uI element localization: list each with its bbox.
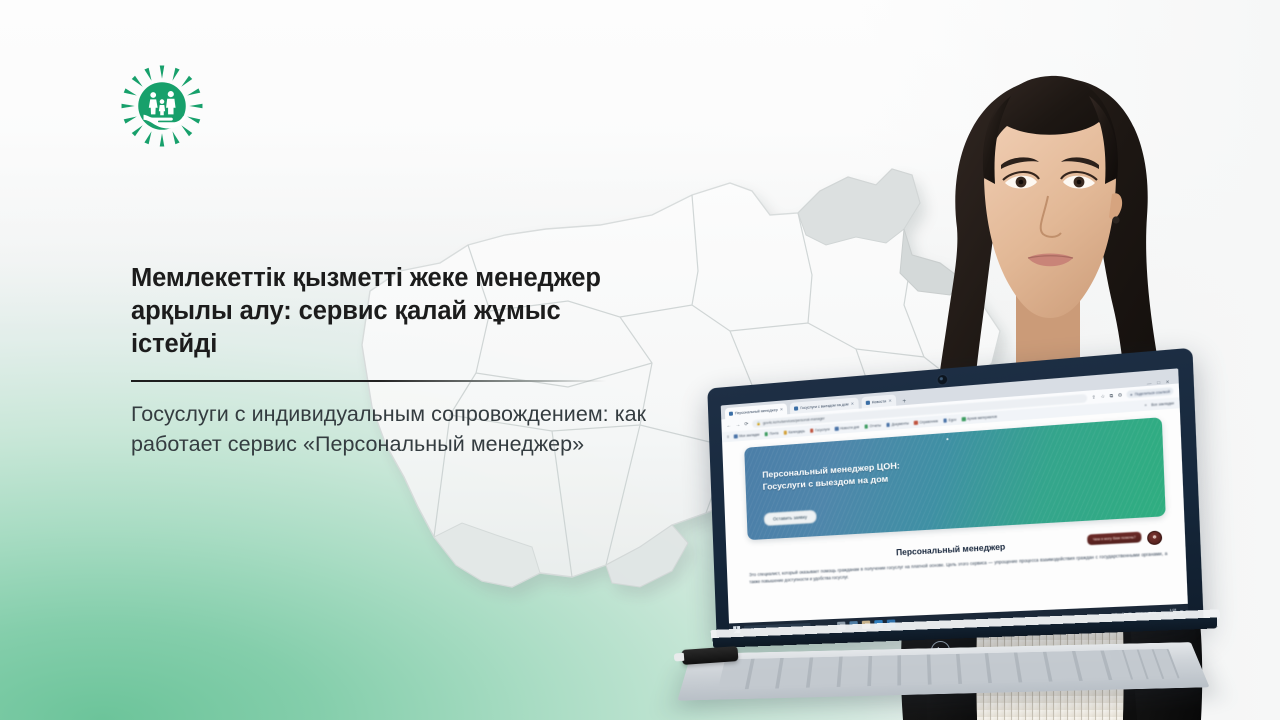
keyboard xyxy=(718,650,1128,690)
share-link-button[interactable]: ● Поделиться ссылкой xyxy=(1127,387,1174,398)
bookmark-label: Справочник xyxy=(919,419,938,425)
bookmark-label: Egov xyxy=(949,418,957,423)
reload-icon[interactable]: ⟳ xyxy=(744,421,748,427)
headline-block: Мемлекеттік қызметті жеке менеджер арқыл… xyxy=(131,262,651,459)
bookmarks-right[interactable]: » Все закладки xyxy=(1145,401,1174,408)
bookmark-label: Календарь xyxy=(788,429,804,434)
page-hero-banner: Персональный менеджер ЦОН: Госуслуги с в… xyxy=(744,417,1166,540)
tab-favicon xyxy=(865,400,869,404)
profile-label: Поделиться ссылкой xyxy=(1135,389,1170,396)
all-bookmarks-label[interactable]: Все закладки xyxy=(1151,401,1174,407)
browser-nav-buttons[interactable]: ← → ⟳ xyxy=(726,421,748,429)
url-text: gov4c.kz/ru/services/personal-manager xyxy=(763,416,825,425)
close-icon[interactable]: ✕ xyxy=(851,401,855,406)
bookmark-star-icon[interactable]: ☆ xyxy=(1100,393,1105,400)
slide-canvas: Мемлекеттік қызметті жеке менеджер арқыл… xyxy=(0,0,1280,720)
back-icon[interactable]: ← xyxy=(726,422,731,428)
close-icon[interactable]: ✕ xyxy=(780,407,784,412)
banner-indicator xyxy=(946,438,948,440)
bookmark-label: Мои закладки xyxy=(739,433,760,439)
tab-title: Новости xyxy=(872,399,887,404)
laptop-base xyxy=(677,642,1209,700)
profile-avatar: ● xyxy=(1130,392,1132,396)
close-icon[interactable]: ✕ xyxy=(888,398,892,403)
bookmark-item[interactable]: Архив материалов xyxy=(962,415,997,422)
bookmark-item[interactable]: Госуслуги xyxy=(810,427,830,433)
bookmark-label: Отчеты xyxy=(870,423,882,428)
bookmark-item[interactable]: Egov xyxy=(943,418,956,423)
numpad xyxy=(1109,649,1180,680)
page-section: Чем я могу Вам помочь? ☻ Персональный ме… xyxy=(748,530,1168,585)
bookmark-label: Архив материалов xyxy=(967,415,997,421)
sun-family-hand-logo xyxy=(118,62,206,150)
bookmark-label: Документы xyxy=(891,421,908,426)
tab-title: Персональный менеджер xyxy=(735,407,778,414)
laptop-lid: Персональный менеджер ✕ Госуслуги с выез… xyxy=(707,348,1204,646)
tab-title: Госуслуги с выездом на дом xyxy=(800,402,848,410)
bookmark-label: Почта xyxy=(769,431,778,436)
new-tab-button[interactable]: + xyxy=(899,398,909,405)
bookmark-item[interactable]: Отчеты xyxy=(864,423,881,428)
bookmark-label: Новости дня xyxy=(840,425,859,431)
forward-icon[interactable]: → xyxy=(735,422,740,428)
bookmarks-overflow-icon[interactable]: » xyxy=(1145,403,1147,407)
lock-icon: 🔒 xyxy=(756,421,761,425)
title-divider xyxy=(131,380,606,382)
page-title-kk: Мемлекеттік қызметті жеке менеджер арқыл… xyxy=(131,262,651,361)
close-window-icon[interactable]: ✕ xyxy=(1166,379,1170,385)
web-page: Персональный менеджер ЦОН: Госуслуги с в… xyxy=(722,408,1188,636)
apps-grid-icon[interactable]: ⠿ xyxy=(727,435,729,439)
maximize-icon[interactable]: □ xyxy=(1157,380,1160,386)
bookmark-item[interactable]: Календарь xyxy=(783,429,805,435)
share-icon[interactable]: ⇪ xyxy=(1092,394,1096,401)
laptop: Персональный менеджер ✕ Госуслуги с выез… xyxy=(655,382,1195,720)
tab-favicon xyxy=(794,406,798,410)
bookmark-item[interactable]: Справочник xyxy=(914,419,938,425)
bookmark-item[interactable]: Почта xyxy=(764,431,778,436)
minimize-icon[interactable]: — xyxy=(1147,380,1152,386)
extensions-icon[interactable]: ⧉ xyxy=(1109,393,1113,399)
browser-actions[interactable]: ⇪ ☆ ⧉ ⚙ xyxy=(1092,392,1123,401)
page-subtitle-ru: Госуслуги с индивидуальным сопровождение… xyxy=(131,399,651,459)
tab-favicon xyxy=(729,411,733,415)
bookmark-label: Госуслуги xyxy=(815,427,830,432)
bookmark-item[interactable]: Новости дня xyxy=(835,425,859,431)
laptop-screen: Персональный менеджер ✕ Госуслуги с выез… xyxy=(721,368,1189,636)
request-button[interactable]: Оставить заявку xyxy=(764,510,817,526)
banner-title: Персональный менеджер ЦОН: Госуслуги с в… xyxy=(762,459,901,493)
webcam-icon xyxy=(936,374,948,386)
bookmark-item[interactable]: Мои закладки xyxy=(734,433,760,439)
gear-icon[interactable]: ⚙ xyxy=(1118,392,1123,399)
support-agent-icon[interactable]: ☻ xyxy=(1147,530,1162,545)
bookmark-item[interactable]: Документы xyxy=(886,421,909,427)
